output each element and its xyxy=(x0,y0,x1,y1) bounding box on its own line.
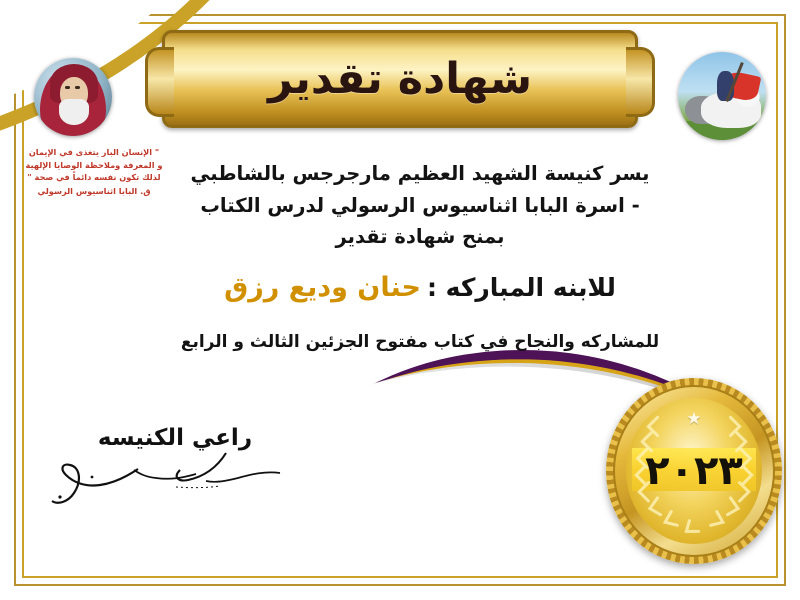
award-reason: للمشاركه والنجاح في كتاب مفتوح الجزئين ا… xyxy=(100,332,740,352)
signature-strokes-icon xyxy=(30,447,320,509)
body-line-3: بمنح شهادة تقدير xyxy=(150,221,690,253)
handwritten-signature xyxy=(30,447,320,509)
recipient-name: حنان وديع رزق xyxy=(224,272,421,303)
title-banner: شهادة تقدير xyxy=(162,30,638,128)
certificate-body: يسر كنيسة الشهيد العظيم مارجرجس بالشاطبي… xyxy=(150,158,690,253)
seal-year: ٢٠٢٣ xyxy=(645,448,743,494)
title-banner-wrapper: شهادة تقدير xyxy=(0,30,800,128)
recipient-label: للابنه المباركه : xyxy=(427,273,616,302)
recipient-row: للابنه المباركه :حنان وديع رزق xyxy=(160,272,680,303)
quote-line-2: و المعرفة وملاحظة الوصايا الإلهية xyxy=(26,160,163,170)
body-line-2: - اسرة البابا اثناسيوس الرسولي لدرس الكت… xyxy=(150,190,690,222)
signature-block: راعي الكنيسه xyxy=(30,425,320,509)
body-line-1: يسر كنيسة الشهيد العظيم مارجرجس بالشاطبي xyxy=(150,158,690,190)
certificate-title: شهادة تقدير xyxy=(268,54,532,104)
quote-line-3: لذلك تكون نفسه دائماً في صحة " xyxy=(27,172,160,182)
gold-award-seal-icon: ★ ٢٠٢٣ xyxy=(606,378,782,564)
certificate-canvas: شهادة تقدير " الإنسان البار يتغذى في الإ… xyxy=(0,0,800,600)
seal-star-icon: ★ xyxy=(686,409,701,429)
quote-line-1: " الإنسان البار يتغذى في الإيمان xyxy=(29,147,159,157)
